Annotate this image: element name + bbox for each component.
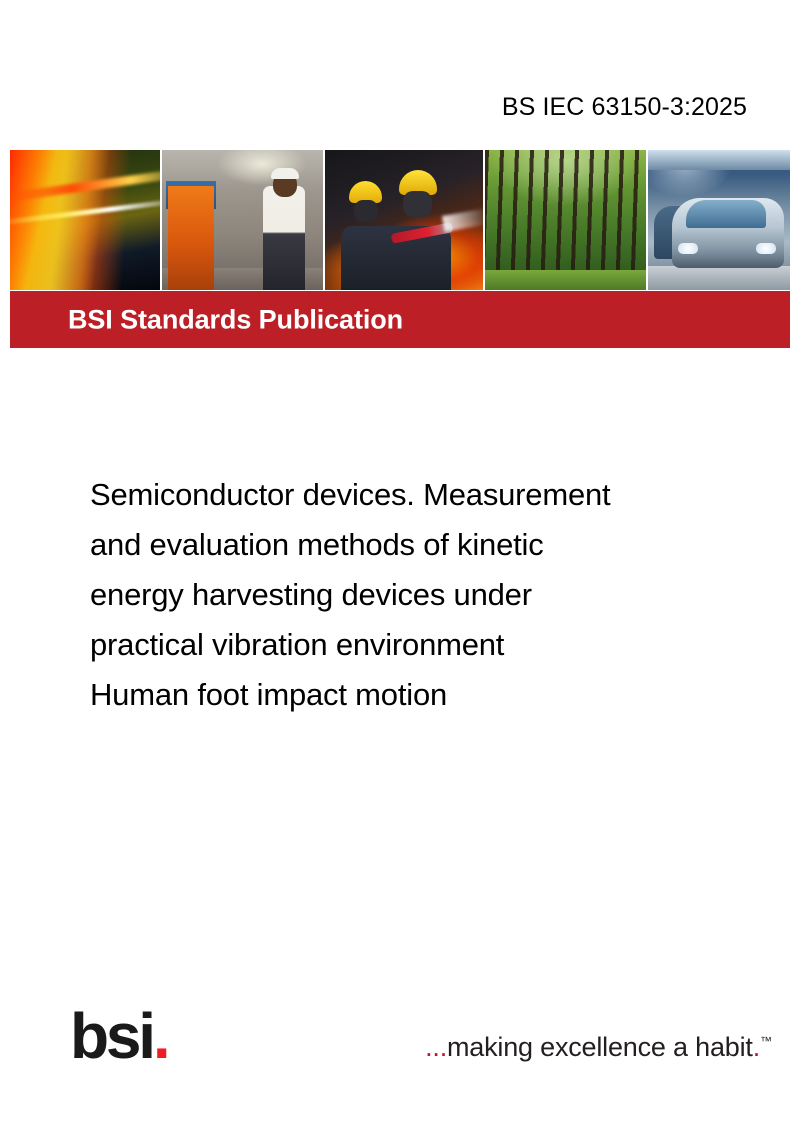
title-line: Human foot impact motion [90,670,730,720]
cover-image-traffic-light-trails [10,150,160,290]
page-title: Semiconductor devices. Measurement and e… [90,470,730,720]
bsi-logo-dot: . [153,1000,168,1072]
title-line: practical vibration environment [90,620,730,670]
tagline-period: . [753,1032,760,1062]
tagline-ellipsis: ... [425,1032,447,1062]
title-line: Semiconductor devices. Measurement [90,470,730,520]
bsi-standards-banner: BSI Standards Publication [10,291,790,348]
firefighter-face-left [354,200,378,222]
bsi-logo-wordmark: bsi [70,1000,153,1072]
firefighter-face-right [403,191,432,217]
car-headlight-right [756,243,776,254]
cover-image-strip [10,150,790,290]
warehouse-worker-body [263,186,305,290]
car-headlight-left [678,243,698,254]
banner-label: BSI Standards Publication [68,304,403,335]
cover-image-firefighters [325,150,483,290]
standard-number: BS IEC 63150-3:2025 [0,93,747,122]
factory-ceiling [648,150,790,170]
bsi-logo: bsi. [70,1004,167,1068]
title-line: energy harvesting devices under [90,570,730,620]
forest-floor [485,270,646,290]
cover-image-automotive-assembly [648,150,790,290]
cover-image-warehouse-worker [162,150,323,290]
water-jet [442,208,483,232]
tagline-text: making excellence a habit [447,1032,753,1062]
title-line: and evaluation methods of kinetic [90,520,730,570]
car-windshield [686,200,766,228]
warehouse-worker-cap [271,168,299,179]
cover-image-forest [485,150,646,290]
warehouse-orange-crate [168,186,214,290]
trademark-icon: ™ [760,1034,772,1048]
bsi-tagline: ...making excellence a habit.™ [425,1032,772,1063]
factory-floor [648,266,790,290]
